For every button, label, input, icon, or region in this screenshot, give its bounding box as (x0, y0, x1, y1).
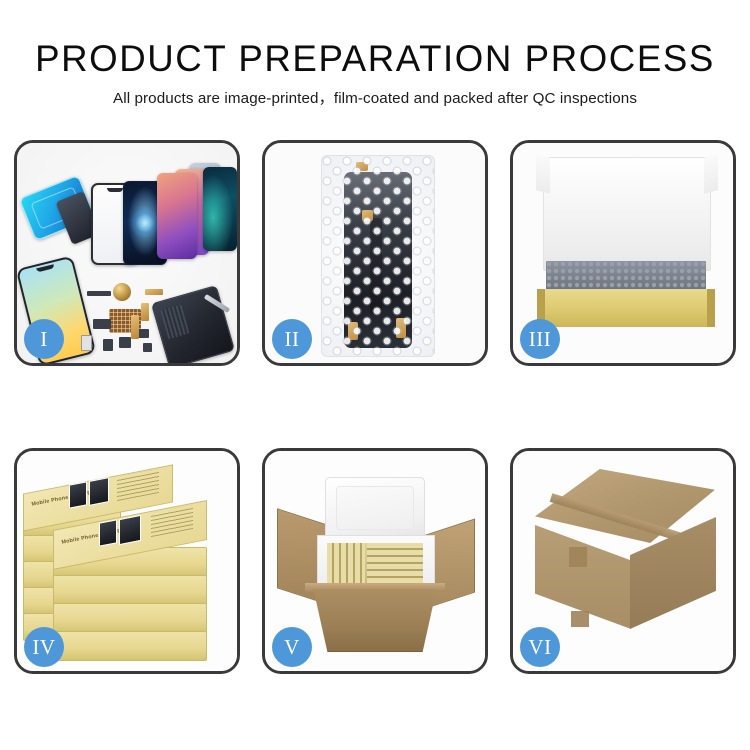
step-badge-3: III (520, 319, 560, 359)
process-steps-grid: I II I (14, 140, 736, 674)
step-panel-6: VI (510, 448, 736, 674)
bubble-texture (322, 156, 434, 356)
bubble-wrap-bag (321, 155, 435, 357)
stacked-box-r2 (53, 575, 207, 605)
carton-tape-lower (571, 611, 589, 627)
speaker-component (113, 283, 131, 301)
step-badge-1: I (24, 319, 64, 359)
small-part-1 (87, 291, 111, 296)
foam-padding-layer (546, 261, 706, 291)
small-part-7 (81, 335, 92, 351)
step-panel-2: II (262, 140, 488, 366)
small-part-6 (143, 343, 152, 352)
styrofoam-lid (325, 477, 425, 541)
box-print-screen-1b (89, 477, 109, 506)
carton-tape-upper (569, 547, 587, 567)
step-panel-5: V (262, 448, 488, 674)
step-badge-4: IV (24, 627, 64, 667)
box-print-screen-2b (119, 515, 141, 545)
box-print-screen-2a (99, 519, 117, 546)
small-part-4 (119, 337, 131, 348)
page-title: PRODUCT PREPARATION PROCESS (4, 36, 747, 82)
carton-front-panel (305, 589, 445, 652)
gold-flex-1 (145, 289, 163, 295)
product-preparation-infographic: PRODUCT PREPARATION PROCESS All products… (0, 0, 750, 750)
step-panel-4: Mobile Phone Spare Parts Mobile Phone Sp… (14, 448, 240, 674)
step-panel-3: III (510, 140, 736, 366)
stacked-box-r3 (53, 603, 207, 633)
stacked-box-r4 (53, 631, 207, 661)
step-badge-5: V (272, 627, 312, 667)
box-lid-white (543, 157, 711, 271)
small-part-3 (103, 339, 113, 351)
gold-flex-3 (131, 315, 139, 339)
phone-rear-housing (151, 285, 235, 363)
box-print-screen-1a (69, 481, 87, 508)
step-badge-6: VI (520, 627, 560, 667)
phone-teal-display (203, 167, 237, 251)
packed-retail-boxes (327, 543, 423, 583)
header: PRODUCT PREPARATION PROCESS All products… (0, 36, 750, 109)
kraft-box-body (539, 289, 713, 327)
gold-flex-2 (141, 303, 149, 321)
page-subtitle: All products are image-printed，film-coat… (0, 89, 750, 109)
small-part-2 (93, 319, 111, 329)
step-panel-1: I (14, 140, 240, 366)
phone-purple-display (157, 173, 197, 259)
step-badge-2: II (272, 319, 312, 359)
